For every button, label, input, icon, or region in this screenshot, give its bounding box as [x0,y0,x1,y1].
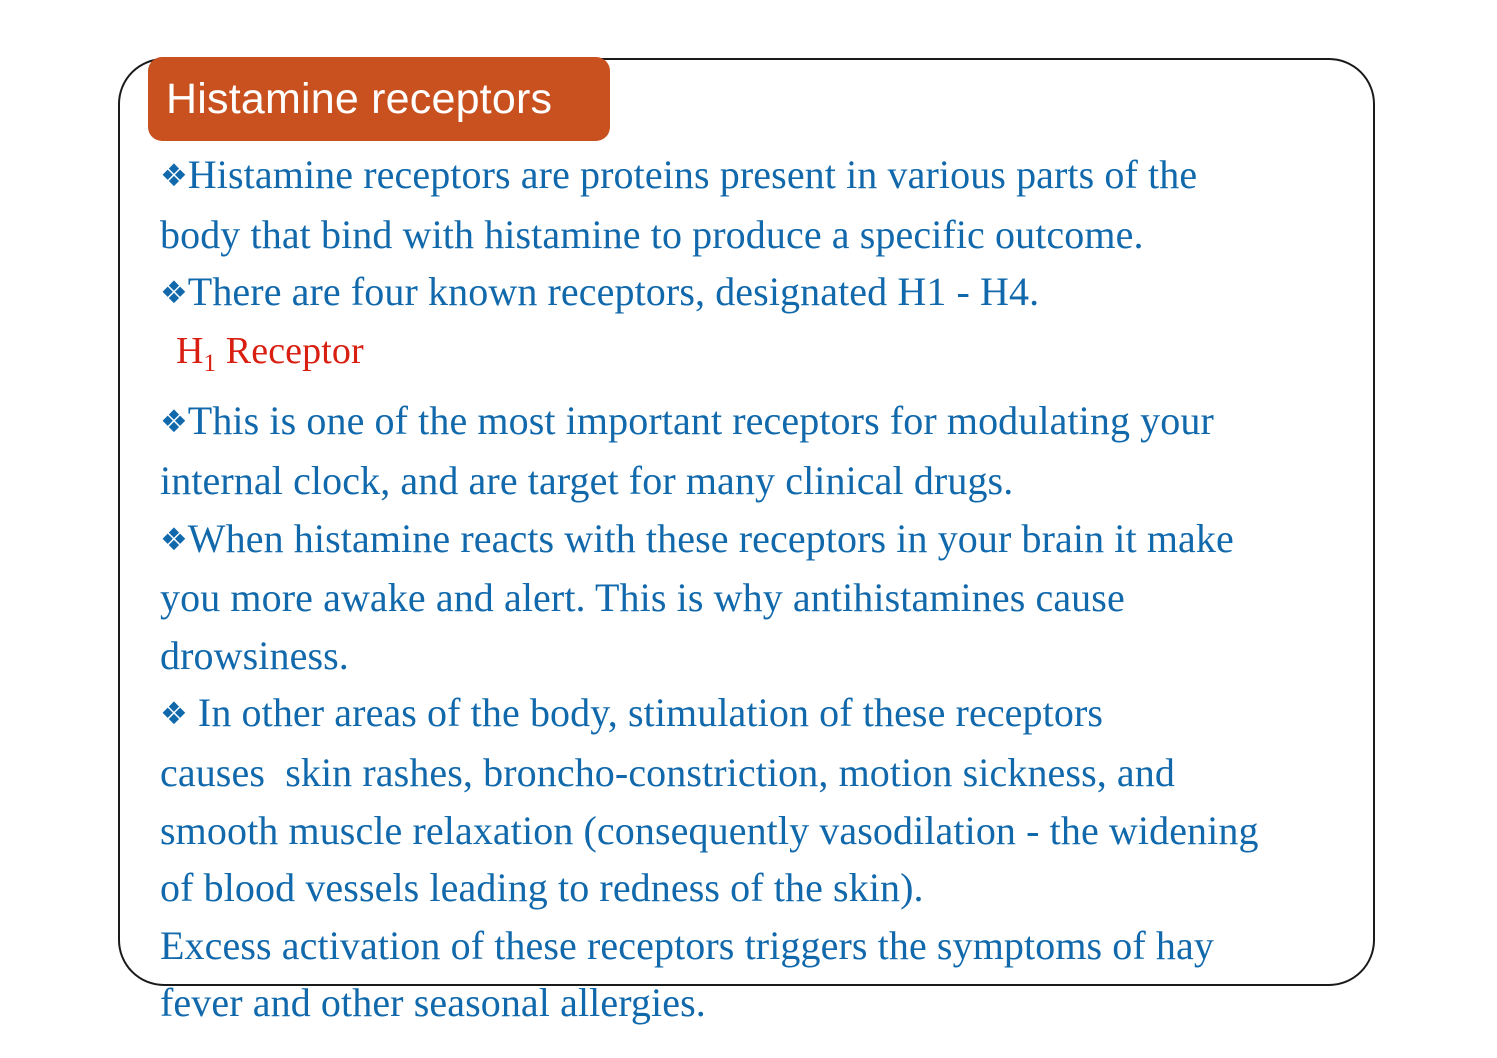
body-line-2: body that bind with histamine to produce… [160,206,1392,264]
body-line-8: you more awake and alert. This is why an… [160,569,1392,627]
body-line-6: internal clock, and are target for many … [160,452,1392,510]
body-line-2-text: body that bind with histamine to produce… [160,212,1144,257]
body-line-8-text: you more awake and alert. This is why an… [160,575,1125,620]
slide-body-text: ❖Histamine receptors are proteins presen… [160,146,1392,1032]
h1-receptor-heading: H1 Receptor [160,323,1392,393]
body-line-14-text: Excess activation of these receptors tri… [160,923,1214,968]
body-line-12-text: smooth muscle relaxation (consequently v… [160,808,1259,853]
bullet-line-7-text: When histamine reacts with these recepto… [188,516,1234,561]
body-line-14: Excess activation of these receptors tri… [160,917,1392,975]
bullet-line-1: ❖Histamine receptors are proteins presen… [160,146,1392,206]
body-line-12: smooth muscle relaxation (consequently v… [160,802,1392,860]
body-line-11: causes skin rashes, broncho-constriction… [160,744,1392,802]
body-line-15: fever and other seasonal allergies. [160,974,1392,1032]
body-line-9: drowsiness. [160,627,1392,685]
body-line-9-text: drowsiness. [160,633,349,678]
diamond-bullet-icon: ❖ [160,158,188,194]
h1-receptor-letter: H [176,330,204,372]
bullet-line-3-text: There are four known receptors, designat… [188,269,1039,314]
bullet-line-5-text: This is one of the most important recept… [188,398,1214,443]
bullet-line-3: ❖There are four known receptors, designa… [160,263,1392,323]
slide-title-badge: Histamine receptors [148,57,610,141]
h1-receptor-label: Receptor [216,330,364,372]
bullet-line-5: ❖This is one of the most important recep… [160,392,1392,452]
body-line-13: of blood vessels leading to redness of t… [160,859,1392,917]
body-line-15-text: fever and other seasonal allergies. [160,980,706,1025]
diamond-bullet-icon: ❖ [160,522,188,558]
bullet-line-10: ❖ In other areas of the body, stimulatio… [160,684,1392,744]
slide-canvas: Histamine receptors ❖Histamine receptors… [0,0,1497,1058]
bullet-line-7: ❖When histamine reacts with these recept… [160,510,1392,570]
bullet-line-1-text: Histamine receptors are proteins present… [188,152,1197,197]
body-line-6-text: internal clock, and are target for many … [160,458,1013,503]
h1-receptor-subscript: 1 [204,350,217,377]
diamond-bullet-icon: ❖ [160,404,188,440]
body-line-11-text: causes skin rashes, broncho-constriction… [160,750,1175,795]
bullet-line-10-text: In other areas of the body, stimulation … [188,690,1103,735]
body-line-13-text: of blood vessels leading to redness of t… [160,865,924,910]
page-title: Histamine receptors [166,78,552,121]
diamond-bullet-icon: ❖ [160,275,188,311]
diamond-bullet-icon: ❖ [160,696,188,732]
